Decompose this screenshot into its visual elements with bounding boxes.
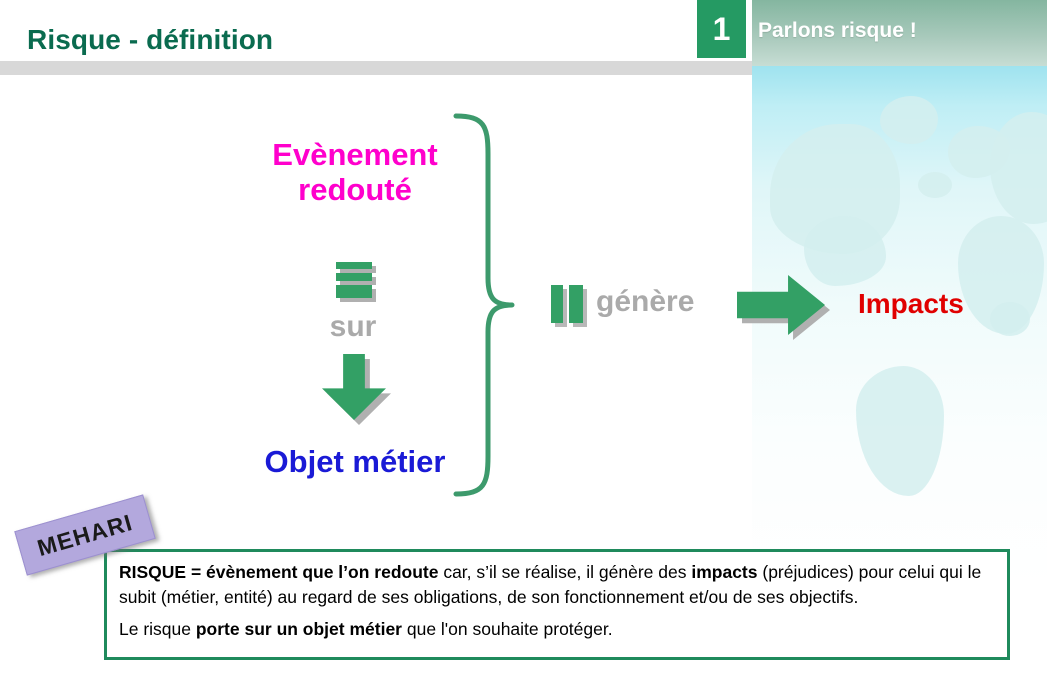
map-landmass-south-america: [856, 366, 944, 496]
slide-canvas: Risque - définition 1 Parlons risque ! E…: [0, 0, 1047, 677]
curly-brace-icon: [448, 110, 520, 500]
chapter-label: Parlons risque !: [758, 19, 917, 43]
definition-paragraph-1: RISQUE = évènement que l’on redoute car,…: [119, 560, 995, 610]
map-landmass-spot-1: [918, 172, 952, 198]
chapter-number-badge: 1: [697, 0, 746, 58]
down-arrow-icon: [322, 354, 386, 420]
definition-callout-box: RISQUE = évènement que l’on redoute car,…: [104, 549, 1010, 660]
stacked-bars-icon: [336, 262, 380, 298]
definition-p1-text-1: car, s’il se réalise, il génère des: [438, 562, 691, 582]
definition-p2-text-1: Le risque: [119, 619, 196, 639]
node-impacts: Impacts: [858, 288, 964, 320]
page-title: Risque - définition: [27, 24, 273, 56]
map-landmass-asia: [990, 112, 1047, 224]
right-arrow-icon: [737, 275, 825, 335]
map-landmass-spot-2: [990, 302, 1030, 336]
definition-p2-text-2: que l'on souhaite protéger.: [402, 619, 613, 639]
definition-p2-bold-1: porte sur un objet métier: [196, 619, 402, 639]
map-landmass-greenland: [880, 96, 938, 144]
definition-p1-bold-1: RISQUE = évènement que l’on redoute: [119, 562, 438, 582]
header-divider-rule: [0, 61, 752, 75]
definition-p1-bold-2: impacts: [691, 562, 757, 582]
relation-label-genere: génère: [596, 285, 694, 319]
vertical-bars-icon: [551, 285, 595, 323]
relation-label-sur: sur: [300, 310, 406, 344]
definition-paragraph-2: Le risque porte sur un objet métier que …: [119, 617, 995, 642]
